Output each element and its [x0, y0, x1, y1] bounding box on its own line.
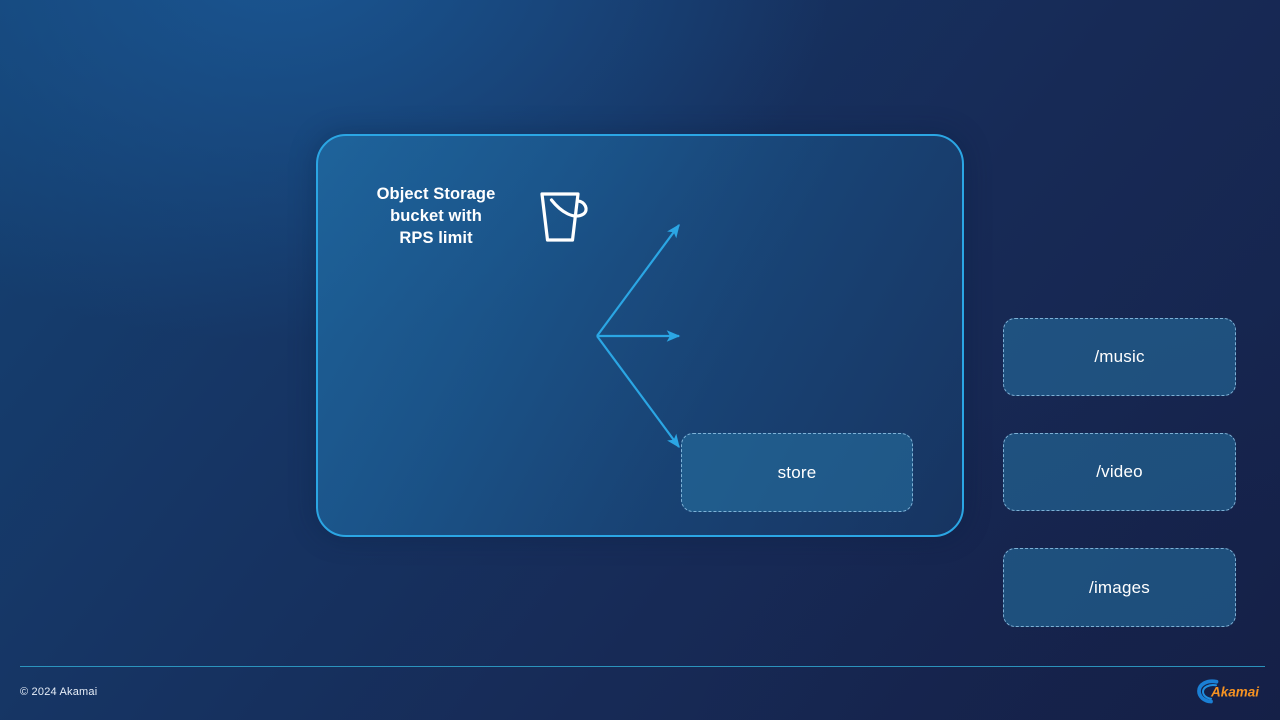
node-music-label: /music	[1094, 347, 1144, 367]
slide-canvas: Object Storage bucket with RPS limit sto…	[0, 0, 1280, 720]
bucket-label-line-3: RPS limit	[362, 228, 510, 250]
node-images[interactable]: /images	[1003, 548, 1236, 627]
node-images-label: /images	[1089, 578, 1150, 598]
footer-copyright: © 2024 Akamai	[20, 686, 97, 698]
bucket-label: Object Storage bucket with RPS limit	[362, 184, 510, 250]
node-video[interactable]: /video	[1003, 433, 1236, 511]
footer-divider	[20, 666, 1265, 667]
bucket-header: Object Storage bucket with RPS limit	[362, 176, 622, 258]
akamai-logo: Akamai	[1196, 678, 1268, 704]
bucket-label-line-2: bucket with	[362, 206, 510, 228]
bucket-icon	[534, 186, 596, 248]
bucket-label-line-1: Object Storage	[362, 184, 510, 206]
node-video-label: /video	[1096, 462, 1143, 482]
node-music[interactable]: /music	[1003, 318, 1236, 396]
node-store-label: store	[778, 463, 817, 483]
akamai-wordmark: Akamai	[1210, 685, 1259, 700]
diagram-card: Object Storage bucket with RPS limit sto…	[316, 134, 964, 537]
node-store[interactable]: store	[681, 433, 913, 512]
